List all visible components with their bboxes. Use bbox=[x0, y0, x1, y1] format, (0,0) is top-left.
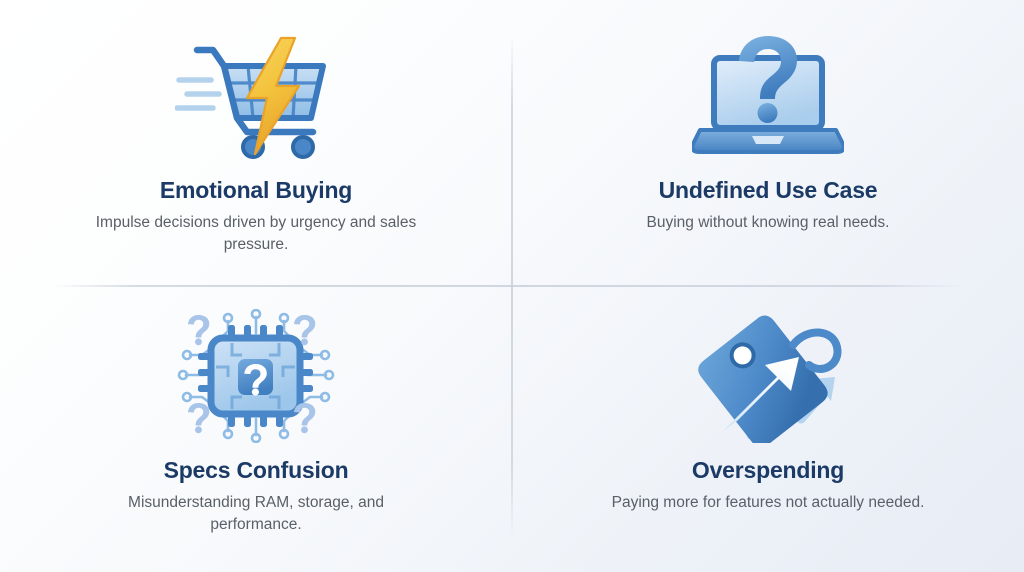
card-description: Impulse decisions driven by urgency and … bbox=[91, 212, 421, 256]
card-specs-confusion: Specs Confusion Misunderstanding RAM, st… bbox=[0, 286, 512, 572]
card-title: Undefined Use Case bbox=[659, 178, 878, 203]
card-description: Paying more for features not actually ne… bbox=[612, 492, 925, 514]
card-description: Misunderstanding RAM, storage, and perfo… bbox=[91, 492, 421, 536]
infographic-canvas: Emotional Buying Impulse decisions drive… bbox=[0, 0, 1024, 572]
quadrant-grid: Emotional Buying Impulse decisions drive… bbox=[0, 0, 1024, 572]
laptop-question-mark-icon bbox=[683, 34, 853, 162]
card-description: Buying without knowing real needs. bbox=[647, 212, 890, 234]
price-tag-rising-arrow-icon bbox=[683, 308, 853, 444]
card-emotional-buying: Emotional Buying Impulse decisions drive… bbox=[0, 0, 512, 286]
card-title: Overspending bbox=[692, 458, 844, 483]
card-undefined-use-case: Undefined Use Case Buying without knowin… bbox=[512, 0, 1024, 286]
card-title: Specs Confusion bbox=[164, 458, 349, 483]
cpu-chip-question-marks-icon bbox=[171, 308, 341, 444]
card-title: Emotional Buying bbox=[160, 178, 352, 203]
card-overspending: Overspending Paying more for features no… bbox=[512, 286, 1024, 572]
shopping-cart-lightning-icon bbox=[171, 34, 341, 162]
